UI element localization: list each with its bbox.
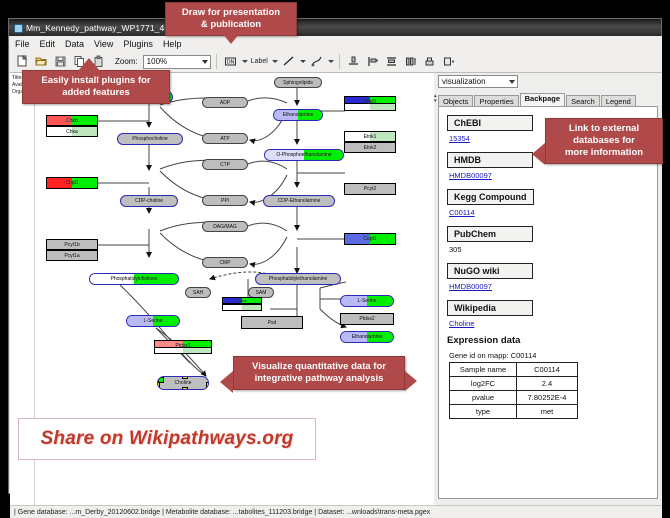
callout-links-line2: databases for xyxy=(552,135,656,147)
gene-etnk2[interactable]: Etnk2 xyxy=(344,142,396,153)
chevron-down-icon xyxy=(202,60,208,64)
backpage-section-chebi-title: ChEBI xyxy=(447,115,533,131)
gene-id-line: Gene id on mapp: C00114 xyxy=(449,351,657,360)
expression-table: Sample name C00114 log2FC 2.4 pvalue 7.8… xyxy=(449,362,578,419)
datanode-icon[interactable]: DN xyxy=(222,53,239,70)
window-titlebar: Mm_Kennedy_pathway_WP1771_45176.gpml xyxy=(9,19,661,36)
screenshot-root: Mm_Kennedy_pathway_WP1771_45176.gpml Fil… xyxy=(0,0,670,509)
callout-plugins-line1: Easily install plugins for xyxy=(29,75,163,87)
node-sah[interactable]: SAH xyxy=(185,287,211,298)
node-phosphocholine[interactable]: Phosphocholine xyxy=(117,133,183,145)
selection-handle[interactable] xyxy=(157,376,160,379)
exp-key-type: type xyxy=(450,405,517,419)
node-ctp[interactable]: CTP xyxy=(202,159,248,170)
node-phosphatidylcholines[interactable]: Phosphatidylcholines xyxy=(89,273,179,285)
menu-item-data[interactable]: Data xyxy=(60,39,89,49)
backpage-section-nugo-title: NuGO wiki xyxy=(447,263,533,279)
gene-cept1[interactable]: Cept1 xyxy=(344,233,396,245)
callout-visualize-pointer-left xyxy=(220,371,233,393)
same-height-icon[interactable] xyxy=(402,53,419,70)
gene-ptdss2[interactable]: Ptdss2 xyxy=(340,313,394,325)
align-top-icon[interactable] xyxy=(345,53,362,70)
backpage-section-kegg-title: Kegg Compound xyxy=(447,189,534,205)
expression-data-heading: Expression data xyxy=(447,335,657,346)
align-left-icon[interactable] xyxy=(364,53,381,70)
datanode-dropdown-icon[interactable] xyxy=(242,60,248,63)
callout-share-text: Share on Wikipathways.org xyxy=(41,428,294,450)
panel-tabs: Objects Properties Backpage Search Legen… xyxy=(438,93,637,107)
backpage-content: ChEBI 15354 HMDB HMDB00097 Kegg Compound… xyxy=(438,106,658,499)
table-row: pvalue 7.80252E-4 xyxy=(450,391,578,405)
callout-plugins-line2: added features xyxy=(29,87,163,99)
exp-key-pvalue: pvalue xyxy=(450,391,517,405)
backpage-link-wikipedia[interactable]: Choline xyxy=(449,319,657,328)
node-cdp-ethanolamine[interactable]: CDP-Ethanolamine xyxy=(263,195,335,207)
node-atp[interactable]: ATP xyxy=(202,133,248,144)
line-dropdown-icon[interactable] xyxy=(300,60,306,63)
backpage-section-wikipedia-title: Wikipedia xyxy=(447,300,533,316)
selection-handle[interactable] xyxy=(206,387,209,390)
status-bar: | Gene database: ...m_Derby_20120602.bri… xyxy=(10,505,662,518)
toolbar-separator xyxy=(216,54,217,69)
node-choline-selected[interactable]: Choline xyxy=(157,376,209,390)
callout-visualize: Visualize quantitative data for integrat… xyxy=(233,356,405,390)
distribute-icon[interactable] xyxy=(383,53,400,70)
table-row: Sample name C00114 xyxy=(450,363,578,377)
stack-icon[interactable] xyxy=(421,53,438,70)
table-row: log2FC 2.4 xyxy=(450,377,578,391)
exp-val-sample-name: C00114 xyxy=(517,363,578,377)
status-text: | Gene database: ...m_Derby_20120602.bri… xyxy=(14,509,430,516)
order-icon[interactable] xyxy=(440,53,457,70)
backpage-section-pubchem-title: PubChem xyxy=(447,226,533,242)
callout-draw: Draw for presentation & publication xyxy=(165,2,297,36)
visualization-select[interactable]: visualization xyxy=(438,75,518,88)
callout-draw-line2: & publication xyxy=(172,19,290,31)
line-tool-icon[interactable] xyxy=(280,53,297,70)
new-file-icon[interactable] xyxy=(14,53,31,70)
gene-psd[interactable]: Psd xyxy=(241,316,303,329)
gene-chka[interactable]: Chka xyxy=(46,126,98,137)
node-cdp-choline[interactable]: CDP-choline xyxy=(120,195,178,207)
menu-item-edit[interactable]: Edit xyxy=(35,39,61,49)
zoom-value: 100% xyxy=(147,57,167,66)
callout-plugins-pointer xyxy=(78,58,100,71)
zoom-combo[interactable]: 100% xyxy=(143,55,211,69)
menu-item-file[interactable]: File xyxy=(10,39,35,49)
callout-links: Link to external databases for more info… xyxy=(545,118,663,164)
gene-pcyt2[interactable]: Pcyt2 xyxy=(344,183,396,195)
callout-visualize-line2: integrative pathway analysis xyxy=(240,373,398,385)
node-dag-mag[interactable]: DAG/MAG xyxy=(202,221,248,232)
exp-val-pvalue: 7.80252E-4 xyxy=(517,391,578,405)
menu-bar: File Edit Data View Plugins Help xyxy=(10,36,662,52)
backpage-value-pubchem: 305 xyxy=(449,245,657,254)
gene-chpt1[interactable]: Chpt1 xyxy=(46,177,98,189)
backpage-link-nugo[interactable]: HMDB00097 xyxy=(449,282,657,291)
exp-val-type: met xyxy=(517,405,578,419)
node-phosphatidylethanolamine[interactable]: Phosphatidylethanolamine xyxy=(255,273,341,285)
gene-etnk1[interactable]: Etnk1 xyxy=(344,131,396,142)
gene-pemt[interactable]: Pemt xyxy=(222,297,262,304)
save-file-icon[interactable] xyxy=(52,53,69,70)
node-ethanolamine-bottom[interactable]: Ethanolamine xyxy=(340,331,394,343)
label-dropdown-icon[interactable] xyxy=(272,60,278,63)
exp-key-sample-name: Sample name xyxy=(450,363,517,377)
callout-plugins: Easily install plugins for added feature… xyxy=(22,70,170,104)
menu-item-plugins[interactable]: Plugins xyxy=(118,39,158,49)
visualization-value: visualization xyxy=(442,77,486,86)
node-adp[interactable]: ADP xyxy=(202,97,248,108)
callout-visualize-pointer-right xyxy=(405,371,417,391)
gene-pcyt1a[interactable]: Pcyt1a xyxy=(46,250,98,261)
interaction-dropdown-icon[interactable] xyxy=(328,60,334,63)
interaction-tool-icon[interactable] xyxy=(308,53,325,70)
callout-links-line3: more information xyxy=(552,147,656,159)
gene-ptdss1-lower: . xyxy=(154,347,212,354)
node-cmp[interactable]: CMP xyxy=(202,257,248,268)
node-ppi[interactable]: PPi xyxy=(202,195,248,206)
node-ethanolamine-top[interactable]: Ethanolamine xyxy=(273,109,323,121)
toolbar-separator-2 xyxy=(339,54,340,69)
selection-handle[interactable] xyxy=(182,387,188,390)
menu-item-view[interactable]: View xyxy=(89,39,118,49)
node-sphingolipids[interactable]: Sphingolipids xyxy=(274,77,322,88)
gene-sgpl1-lower: . xyxy=(344,103,396,111)
exp-val-log2fc: 2.4 xyxy=(517,377,578,391)
callout-links-pointer xyxy=(532,143,545,165)
exp-key-log2fc: log2FC xyxy=(450,377,517,391)
selection-handle[interactable] xyxy=(157,387,160,390)
callout-draw-pointer xyxy=(222,33,240,44)
label-tool-label[interactable]: Label xyxy=(251,58,268,65)
gene-pcyt1b[interactable]: Pcyt1b xyxy=(46,239,98,250)
gene-pemt-lower: . xyxy=(222,304,262,311)
tab-backpage[interactable]: Backpage xyxy=(520,93,565,107)
gene-chkb[interactable]: Chkb xyxy=(46,115,98,126)
backpage-link-kegg[interactable]: C00114 xyxy=(449,208,657,217)
selection-handle[interactable] xyxy=(206,376,209,379)
chevron-down-icon xyxy=(509,80,515,84)
app-icon xyxy=(13,23,22,32)
menu-item-help[interactable]: Help xyxy=(158,39,187,49)
backpage-section-hmdb-title: HMDB xyxy=(447,152,533,168)
callout-visualize-line1: Visualize quantitative data for xyxy=(240,361,398,373)
backpage-link-hmdb[interactable]: HMDB00097 xyxy=(449,171,657,180)
callout-links-line1: Link to external xyxy=(552,123,656,135)
callout-share: Share on Wikipathways.org xyxy=(18,418,316,460)
node-o-phosphoethanolamine[interactable]: O-Phosphoethanolamine xyxy=(264,149,344,161)
node-l-serine-left[interactable]: L-Serine xyxy=(126,315,180,327)
selection-handle[interactable] xyxy=(182,376,188,379)
open-file-icon[interactable] xyxy=(33,53,50,70)
callout-draw-line1: Draw for presentation xyxy=(172,7,290,19)
zoom-label: Zoom: xyxy=(115,57,138,66)
node-l-serine-right[interactable]: L-Serine xyxy=(340,295,394,307)
table-row: type met xyxy=(450,405,578,419)
svg-text:DN: DN xyxy=(226,60,234,66)
visualization-row: visualization xyxy=(438,75,660,91)
